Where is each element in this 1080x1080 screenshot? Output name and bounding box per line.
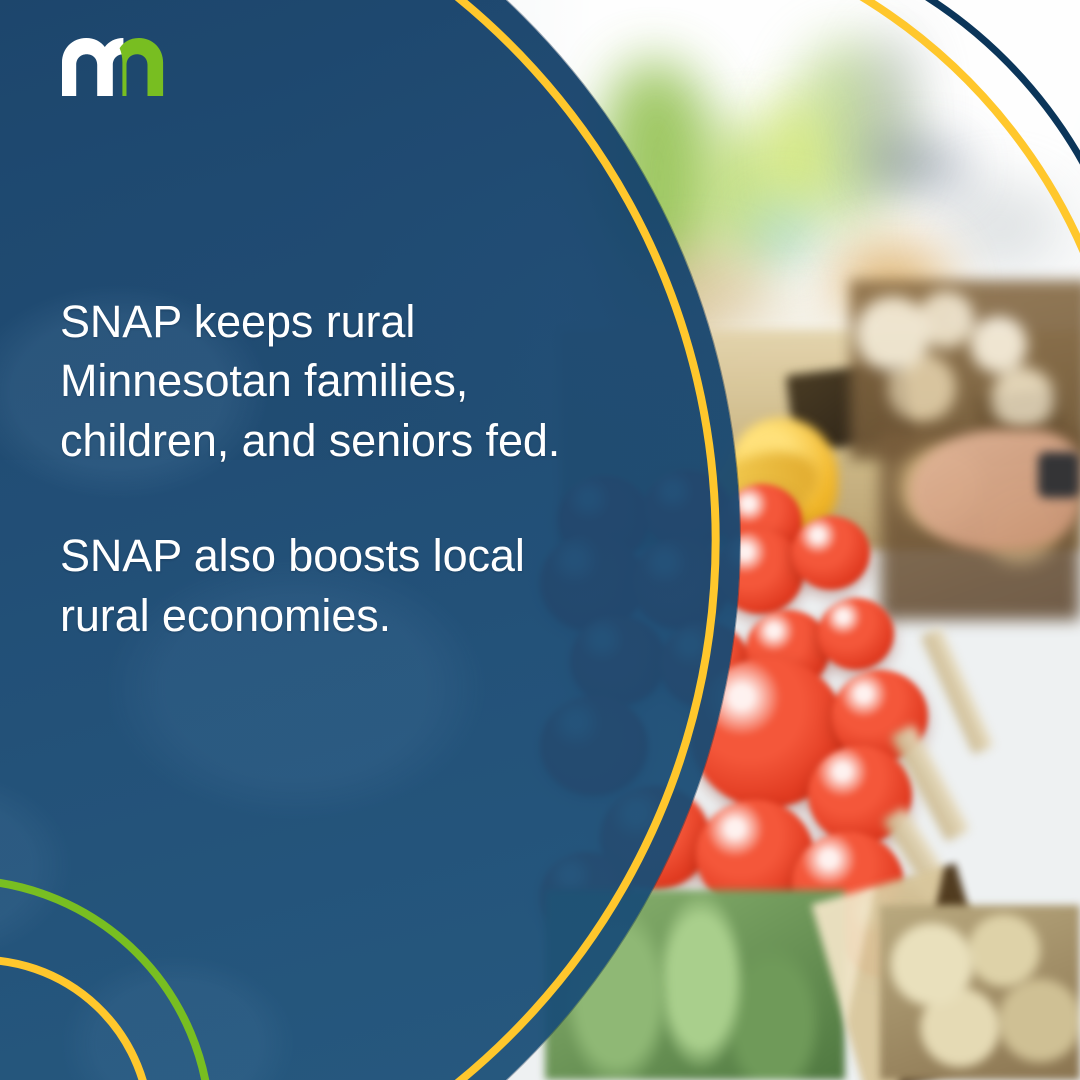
background-blur-gray xyxy=(940,180,1060,270)
produce-blur-teal xyxy=(748,200,818,270)
social-graphic-canvas: SNAP keeps rural Minnesotan families, ch… xyxy=(0,0,1080,1080)
headline-paragraph-2: SNAP also boosts local rural economies. xyxy=(60,526,580,645)
wristwatch xyxy=(1038,452,1080,498)
minnesota-mn-logo[interactable] xyxy=(60,36,168,98)
logo-letter-n-icon xyxy=(120,38,164,96)
potato-display xyxy=(880,905,1080,1080)
headline-paragraph-1: SNAP keeps rural Minnesotan families, ch… xyxy=(60,292,580,470)
background-blur-sign xyxy=(872,148,962,184)
logo-letter-m-icon xyxy=(62,38,123,96)
message-block: SNAP keeps rural Minnesotan families, ch… xyxy=(60,292,580,645)
